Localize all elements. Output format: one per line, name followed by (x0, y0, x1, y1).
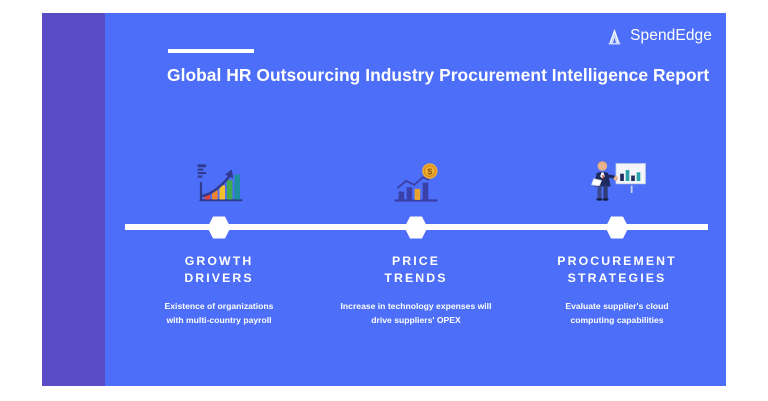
milestone-description: Increase in technology expenses will dri… (321, 300, 511, 328)
timeline-node-hexagon (404, 215, 429, 240)
milestone-heading-line-1: PRICE (392, 254, 440, 268)
milestone-description-line-2: with multi-country payroll (166, 315, 271, 325)
timeline-milestones: GROWTH DRIVERS Existence of organization… (105, 13, 726, 386)
milestone-description-line-2: computing capabilities (570, 315, 663, 325)
presenter-whiteboard-icon (585, 153, 649, 209)
milestone-heading: PRICE TRENDS (318, 253, 514, 288)
milestone-heading: GROWTH DRIVERS (121, 253, 317, 288)
bar-chart-coin-icon: $ (384, 153, 448, 209)
milestone-heading-line-1: GROWTH (185, 254, 254, 268)
growth-chart-arrow-icon (187, 153, 251, 209)
main-blue-panel: SpendEdge Global HR Outsourcing Industry… (105, 13, 726, 386)
milestone-heading-line-2: STRATEGIES (568, 271, 667, 285)
timeline-node-hexagon (207, 215, 232, 240)
milestone-description-line-1: Existence of organizations (165, 301, 274, 311)
milestone-description: Evaluate supplier's cloud computing capa… (522, 300, 712, 328)
left-accent-band (42, 13, 105, 386)
milestone-description: Existence of organizations with multi-co… (124, 300, 314, 328)
milestone-heading: PROCUREMENT STRATEGIES (519, 253, 715, 288)
milestone-description-line-1: Increase in technology expenses will (341, 301, 492, 311)
milestone-heading-line-1: PROCUREMENT (557, 254, 676, 268)
milestone-description-line-1: Evaluate supplier's cloud (565, 301, 668, 311)
svg-text:$: $ (427, 167, 432, 177)
milestone-heading-line-2: DRIVERS (184, 271, 253, 285)
milestone-price-trends[interactable]: $ PRICE TRENDS Increase in technology ex… (316, 13, 516, 386)
timeline-node-hexagon (605, 215, 630, 240)
milestone-growth-drivers[interactable]: GROWTH DRIVERS Existence of organization… (119, 13, 319, 386)
infographic-canvas: SpendEdge Global HR Outsourcing Industry… (0, 0, 768, 401)
milestone-heading-line-2: TRENDS (384, 271, 447, 285)
milestone-description-line-2: drive suppliers' OPEX (371, 315, 460, 325)
milestone-procurement-strategies[interactable]: PROCUREMENT STRATEGIES Evaluate supplier… (517, 13, 717, 386)
